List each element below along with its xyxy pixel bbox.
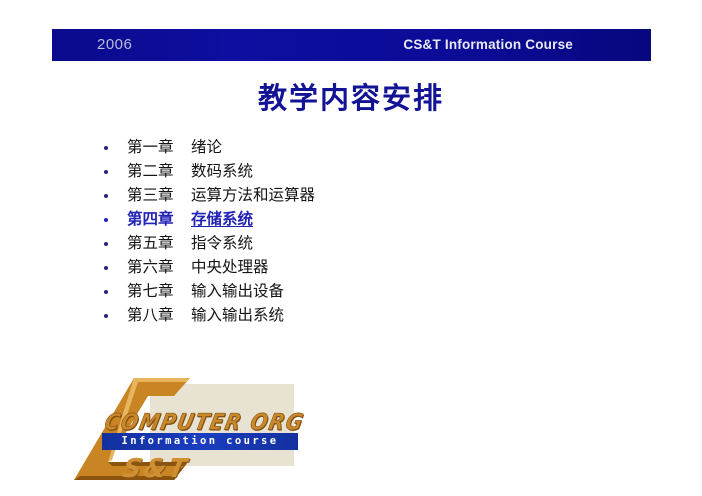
chapter-number: 第二章 bbox=[127, 160, 191, 184]
list-item[interactable]: 第七章输入输出设备 bbox=[100, 280, 520, 304]
header-year-label: 2006 bbox=[97, 35, 132, 54]
list-item-label: 第一章绪论 bbox=[127, 139, 222, 156]
chapter-name: 指令系统 bbox=[191, 235, 253, 252]
slide-canvas: 2006 CS&T Information Course 教学内容安排 第一章绪… bbox=[0, 0, 702, 496]
list-item[interactable]: 第八章输入输出系统 bbox=[100, 304, 520, 328]
bullet-icon bbox=[104, 194, 108, 198]
list-item[interactable]: 第五章指令系统 bbox=[100, 232, 520, 256]
chapter-list: 第一章绪论 第二章数码系统 第三章运算方法和运算器 第四章存储系统 第五章指令系… bbox=[100, 136, 520, 328]
list-item-label: 第七章输入输出设备 bbox=[127, 283, 284, 300]
list-item-label: 第三章运算方法和运算器 bbox=[127, 187, 315, 204]
bullet-icon bbox=[104, 242, 108, 246]
logo-st-wordmark: S&T bbox=[120, 454, 192, 484]
course-logo: COMPUTER ORG Information course S&T bbox=[62, 372, 302, 490]
list-item-label: 第六章中央处理器 bbox=[127, 259, 269, 276]
chapter-name: 数码系统 bbox=[191, 163, 253, 180]
list-item[interactable]: 第三章运算方法和运算器 bbox=[100, 184, 520, 208]
bullet-icon bbox=[104, 266, 108, 270]
slide-header-bar: 2006 CS&T Information Course bbox=[52, 29, 651, 61]
chapter-number: 第六章 bbox=[127, 256, 191, 280]
chapter-name: 存储系统 bbox=[191, 211, 253, 228]
bullet-icon bbox=[104, 314, 108, 318]
list-item[interactable]: 第一章绪论 bbox=[100, 136, 520, 160]
chapter-name: 绪论 bbox=[191, 139, 222, 156]
list-item[interactable]: 第二章数码系统 bbox=[100, 160, 520, 184]
list-item-label: 第五章指令系统 bbox=[127, 235, 253, 252]
logo-info-bar-label: Information course bbox=[102, 433, 298, 450]
list-item-selected[interactable]: 第四章存储系统 bbox=[100, 208, 520, 232]
chapter-name: 输入输出系统 bbox=[191, 307, 284, 324]
chapter-name: 中央处理器 bbox=[191, 259, 269, 276]
list-item-label: 第二章数码系统 bbox=[127, 163, 253, 180]
list-item[interactable]: 第六章中央处理器 bbox=[100, 256, 520, 280]
bullet-icon bbox=[104, 218, 108, 222]
chapter-name: 输入输出设备 bbox=[191, 283, 284, 300]
chapter-number: 第三章 bbox=[127, 184, 191, 208]
chapter-number: 第五章 bbox=[127, 232, 191, 256]
bullet-icon bbox=[104, 146, 108, 150]
list-item-label: 第四章存储系统 bbox=[127, 211, 253, 228]
chapter-number: 第一章 bbox=[127, 136, 191, 160]
logo-info-bar: Information course bbox=[102, 433, 298, 450]
logo-computer-wordmark: COMPUTER ORG bbox=[102, 408, 307, 435]
chapter-name: 运算方法和运算器 bbox=[191, 187, 315, 204]
bullet-icon bbox=[104, 170, 108, 174]
chapter-number: 第四章 bbox=[127, 208, 191, 232]
list-item-label: 第八章输入输出系统 bbox=[127, 307, 284, 324]
chapter-number: 第七章 bbox=[127, 280, 191, 304]
header-course-label: CS&T Information Course bbox=[403, 35, 573, 54]
chapter-number: 第八章 bbox=[127, 304, 191, 328]
bullet-icon bbox=[104, 290, 108, 294]
page-title: 教学内容安排 bbox=[0, 81, 702, 117]
